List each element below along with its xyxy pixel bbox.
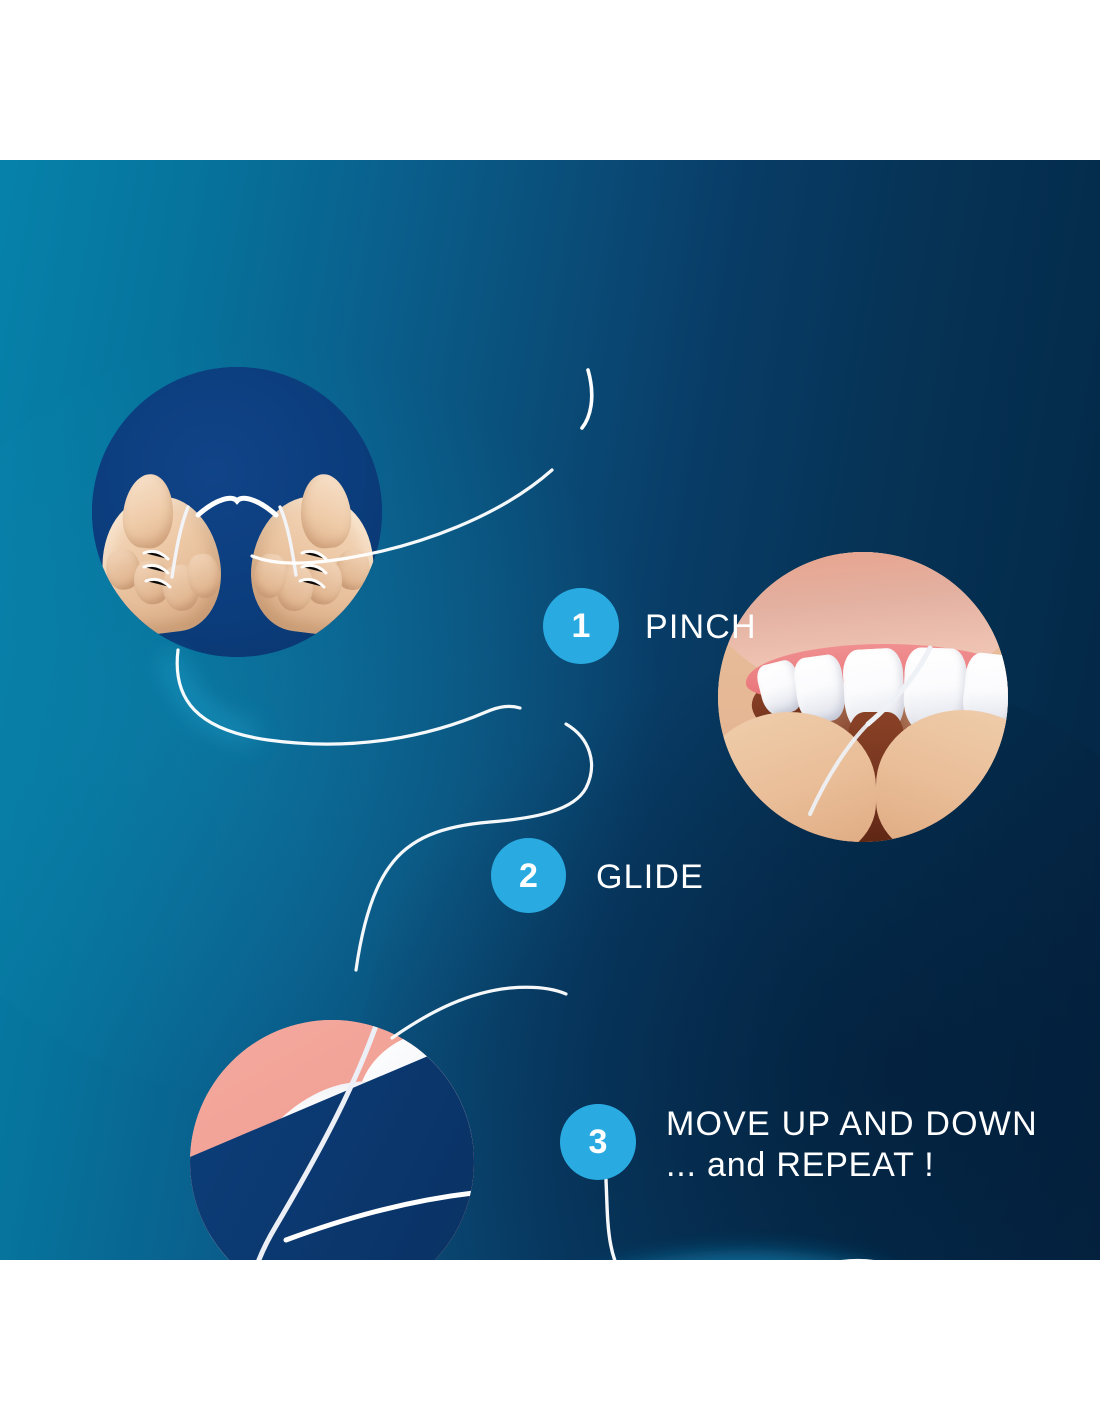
step-badge-3[interactable]: 3	[560, 1104, 636, 1180]
step-label-3-line1: MOVE UP AND DOWN	[666, 1104, 1038, 1145]
floss-strand-between-teeth	[718, 552, 1008, 842]
illustration-circle-move	[190, 1020, 474, 1260]
illustration-circle-pinch	[92, 367, 382, 657]
floss-strand-macro	[190, 1020, 474, 1260]
step-label-3-line2: ... and REPEAT !	[666, 1145, 1038, 1186]
step-label-2: GLIDE	[596, 857, 704, 898]
blue-panel: 1 2 3 PINCH GLIDE MOVE UP AND DOWN ... a…	[0, 160, 1100, 1260]
step-label-3: MOVE UP AND DOWN ... and REPEAT !	[666, 1104, 1038, 1187]
thread-segment-2-to-macro	[356, 724, 592, 970]
page-title: How to use	[0, 73, 1100, 161]
illustration-circle-glide	[718, 552, 1008, 842]
step-badge-1[interactable]: 1	[543, 588, 619, 664]
pinched-floss-strand	[92, 367, 382, 657]
thread-segment-tail	[606, 1180, 964, 1260]
step-badge-2[interactable]: 2	[491, 838, 566, 913]
thread-segment-hand-to-2	[177, 650, 520, 744]
thread-segment-top	[582, 370, 592, 428]
step-label-1: PINCH	[645, 607, 757, 648]
thread-glow	[170, 660, 252, 734]
infographic-root: 1 2 3 PINCH GLIDE MOVE UP AND DOWN ... a…	[0, 0, 1100, 1422]
